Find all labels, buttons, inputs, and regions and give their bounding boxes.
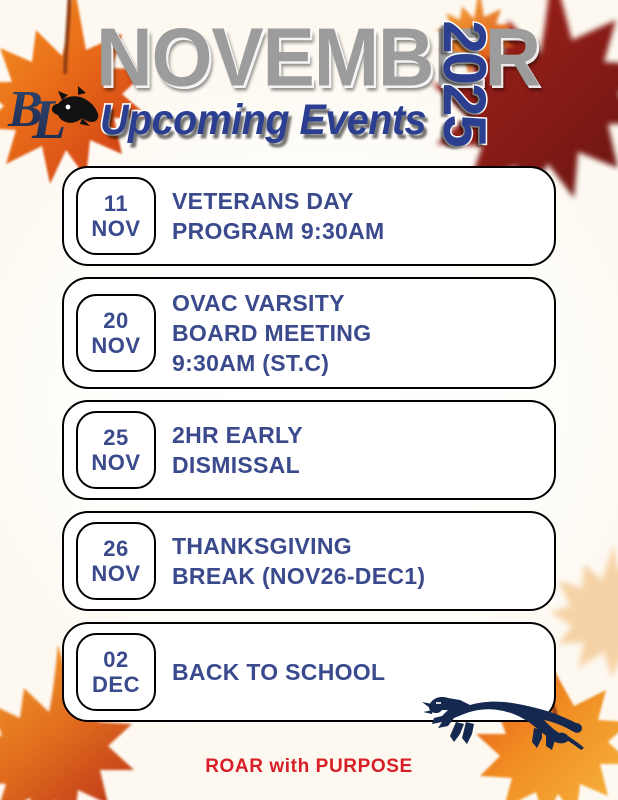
event-text-line: DISMISSAL [172, 450, 544, 480]
event-date-month: NOV [91, 333, 140, 358]
bl-panther-logo: B L [6, 74, 102, 146]
page-subtitle: Upcoming Events [100, 98, 426, 143]
event-date-box: 26 NOV [76, 522, 156, 600]
event-card[interactable]: 25 NOV 2HR EARLY DISMISSAL [62, 400, 556, 500]
event-date-box: 20 NOV [76, 294, 156, 372]
event-description: THANKSGIVING BREAK (NOV26-DEC1) [172, 531, 544, 591]
event-text-line: BACK TO SCHOOL [172, 657, 544, 687]
november-events-flyer: B L NOVEMBER Upcoming Events 2025 [0, 0, 618, 800]
event-text-line: BREAK (NOV26-DEC1) [172, 561, 544, 591]
event-card[interactable]: 20 NOV OVAC VARSITY BOARD MEETING 9:30AM… [62, 277, 556, 389]
event-description: 2HR EARLY DISMISSAL [172, 420, 544, 480]
event-card[interactable]: 02 DEC BACK TO SCHOOL [62, 622, 556, 722]
event-date-month: NOV [91, 216, 140, 241]
event-date-box: 11 NOV [76, 177, 156, 255]
event-text-line: PROGRAM 9:30AM [172, 216, 544, 246]
event-text-line: OVAC VARSITY [172, 288, 544, 318]
event-card[interactable]: 26 NOV THANKSGIVING BREAK (NOV26-DEC1) [62, 511, 556, 611]
event-card[interactable]: 11 NOV VETERANS DAY PROGRAM 9:30AM [62, 166, 556, 266]
event-date-month: NOV [91, 450, 140, 475]
event-text-line: THANKSGIVING [172, 531, 544, 561]
year-label: 2025 [428, 18, 500, 148]
event-description: BACK TO SCHOOL [172, 657, 544, 687]
title-block: NOVEMBER Upcoming Events [96, 16, 426, 151]
maple-leaf-icon-right-edge [548, 540, 618, 680]
year-text: 2025 [434, 20, 494, 145]
event-date-day: 02 [103, 647, 128, 672]
event-date-day: 20 [103, 308, 128, 333]
event-date-box: 02 DEC [76, 633, 156, 711]
event-text-line: VETERANS DAY [172, 186, 544, 216]
footer: ROAR with PURPOSE [0, 756, 618, 778]
event-date-month: DEC [92, 672, 140, 697]
event-text-line: BOARD MEETING [172, 318, 544, 348]
event-description: VETERANS DAY PROGRAM 9:30AM [172, 186, 544, 246]
event-description: OVAC VARSITY BOARD MEETING 9:30AM (ST.C) [172, 288, 544, 378]
events-list: 11 NOV VETERANS DAY PROGRAM 9:30AM 20 NO… [62, 166, 556, 733]
flyer-header: B L NOVEMBER Upcoming Events 2025 [0, 0, 618, 160]
event-date-day: 25 [103, 425, 128, 450]
footer-tagline: ROAR with PURPOSE [205, 756, 413, 778]
event-date-month: NOV [91, 561, 140, 586]
event-date-box: 25 NOV [76, 411, 156, 489]
event-text-line: 9:30AM (ST.C) [172, 348, 544, 378]
event-text-line: 2HR EARLY [172, 420, 544, 450]
event-date-day: 26 [103, 536, 128, 561]
event-date-day: 11 [104, 191, 128, 216]
